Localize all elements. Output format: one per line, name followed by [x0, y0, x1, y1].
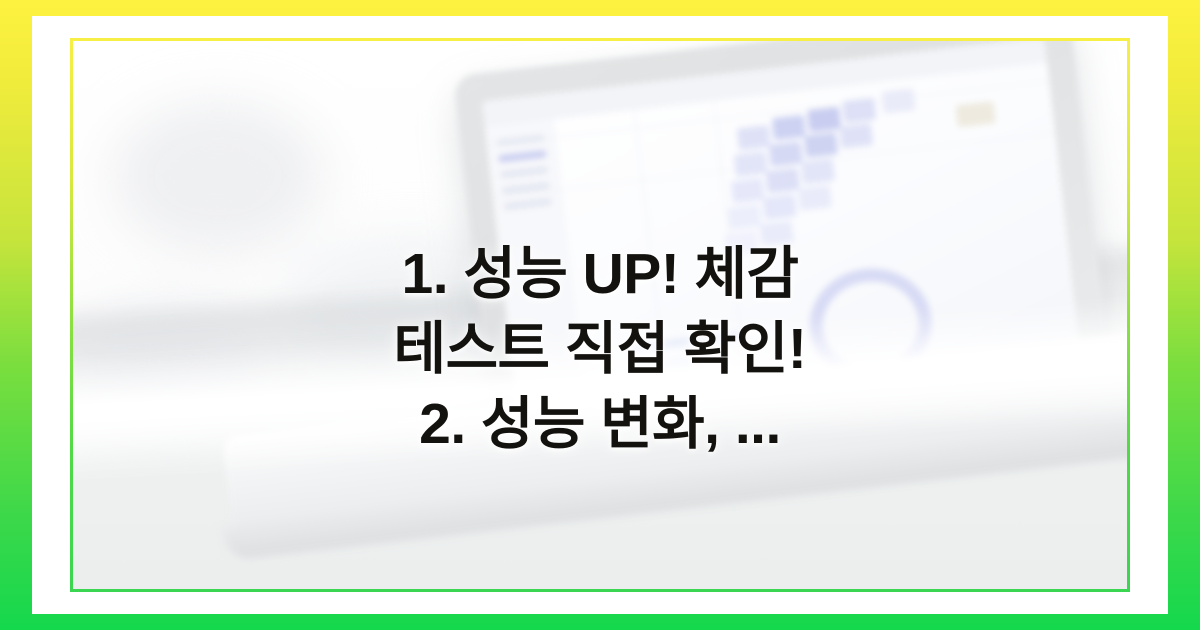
heatmap-cell	[801, 159, 835, 184]
sidebar-chip	[498, 150, 546, 162]
inner-hairline-border: 1. 성능 UP! 체감 테스트 직접 확인! 2. 성능 변화, ...	[70, 38, 1130, 592]
heatmap-cell	[804, 132, 838, 157]
heatmap-cell	[769, 141, 803, 166]
heatmap-cell	[839, 123, 873, 148]
heatmap-cell	[731, 178, 765, 203]
heatmap-cell	[766, 168, 800, 193]
heatmap-cell	[728, 204, 762, 229]
social-card: 1. 성능 UP! 체감 테스트 직접 확인! 2. 성능 변화, ...	[0, 0, 1200, 630]
heatmap-cell	[807, 107, 841, 132]
headline-text: 1. 성능 UP! 체감 테스트 직접 확인! 2. 성능 변화, ...	[73, 237, 1127, 462]
heatmap-cell	[881, 88, 915, 113]
heatmap-cell	[737, 125, 771, 150]
heatmap-cell	[763, 194, 797, 219]
sidebar-chip	[500, 166, 548, 178]
white-mat: 1. 성능 UP! 체감 테스트 직접 확인! 2. 성능 변화, ...	[32, 16, 1168, 614]
heatmap-cell	[798, 185, 832, 210]
background-blob	[113, 101, 323, 251]
background-photo: 1. 성능 UP! 체감 테스트 직접 확인! 2. 성능 변화, ...	[73, 41, 1127, 589]
heatmap-cell	[734, 151, 768, 176]
heatmap-cell	[772, 115, 806, 140]
heatmap-cell	[842, 98, 876, 123]
sidebar-chip	[504, 198, 552, 210]
